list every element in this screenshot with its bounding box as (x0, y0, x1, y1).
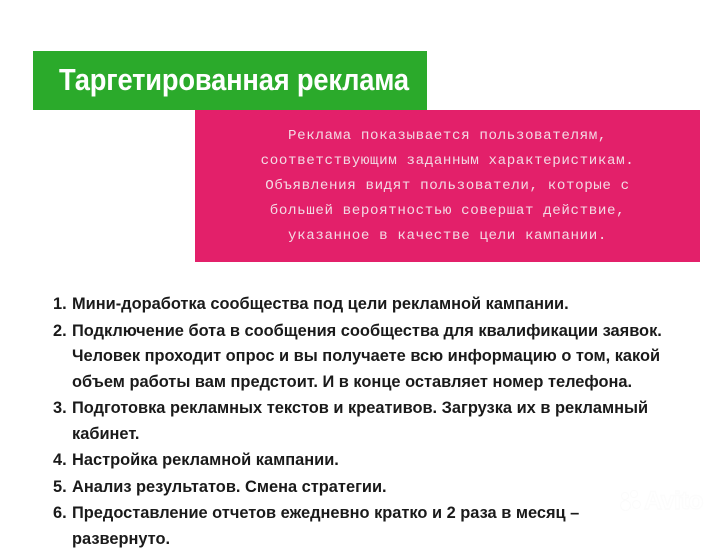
list-item-text: Настройка рекламной кампании. (72, 448, 673, 474)
list-item-number: 3. (53, 396, 72, 422)
steps-list: 1. Мини-доработка сообщества под цели ре… (53, 292, 673, 553)
list-item-number: 5. (53, 475, 72, 501)
list-item: 2. Подключение бота в сообщения сообщест… (53, 319, 673, 396)
page-title: Таргетированная реклама (59, 60, 409, 100)
title-banner: Таргетированная реклама (33, 51, 427, 110)
list-item-number: 1. (53, 292, 72, 318)
list-item-text: Подключение бота в сообщения сообщества … (72, 319, 673, 396)
description-text: Реклама показывается пользователям, соот… (253, 124, 643, 249)
description-callout-box: Реклама показывается пользователям, соот… (195, 110, 700, 262)
list-item-number: 6. (53, 501, 72, 527)
list-item-text: Подготовка рекламных текстов и креативов… (72, 396, 673, 447)
list-item: 3. Подготовка рекламных текстов и креати… (53, 396, 673, 447)
list-item: 6. Предоставление отчетов ежедневно крат… (53, 501, 673, 552)
list-item-text: Предоставление отчетов ежедневно кратко … (72, 501, 673, 552)
list-item-text: Мини-доработка сообщества под цели рекла… (72, 292, 673, 318)
list-item-text: Анализ результатов. Смена стратегии. (72, 475, 673, 501)
list-item: 4. Настройка рекламной кампании. (53, 448, 673, 474)
list-item: 1. Мини-доработка сообщества под цели ре… (53, 292, 673, 318)
list-item-number: 2. (53, 319, 72, 345)
list-item: 5. Анализ результатов. Смена стратегии. (53, 475, 673, 501)
list-item-number: 4. (53, 448, 72, 474)
slide-canvas: Таргетированная реклама Реклама показыва… (0, 0, 720, 540)
